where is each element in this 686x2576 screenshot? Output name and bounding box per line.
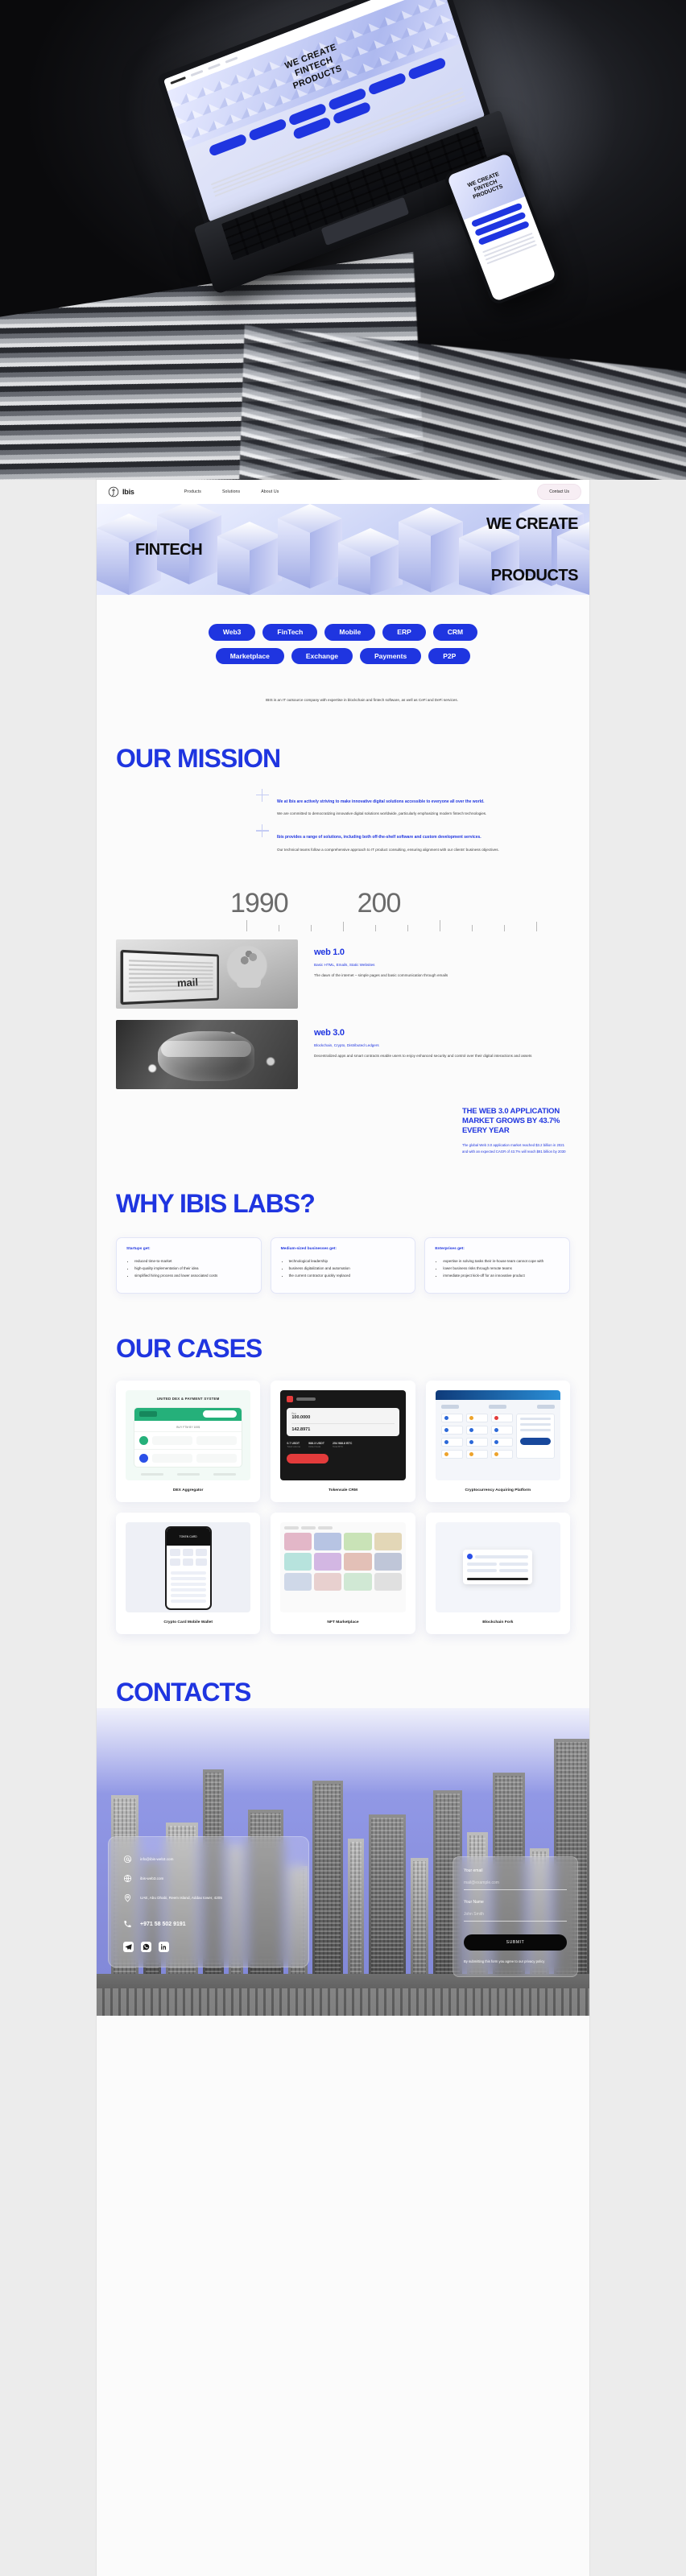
cases-row-1: UNITED DEX & PAYMENT SYSTEM BUY FTM BY 1… [116, 1381, 570, 1502]
mission-block-2: Ibis provides a range of solutions, incl… [277, 834, 519, 853]
mission-section: OUR MISSION We at Ibis are actively stri… [97, 745, 589, 853]
dex-shot-sub: BUY FTM BY 100$ [134, 1421, 242, 1431]
case-label-crypto-acquiring: Cryptocurrency Acquiring Platform [436, 1480, 560, 1502]
site-navbar: Ibis Products Solutions About Us Contact… [97, 480, 589, 504]
contact-phone: +971 58 502 9191 [140, 1922, 186, 1927]
service-tags: Web3 FinTech Mobile ERP CRM Marketplace … [97, 595, 589, 664]
timeline-years: 1990 200 [97, 890, 589, 917]
telegram-icon[interactable] [123, 1942, 134, 1952]
era-web3-title: web 3.0 [314, 1028, 531, 1038]
hero-line-2: FINTECH [135, 541, 202, 559]
case-label-crypto-card-wallet: Crypto Card Mobile Wallet [126, 1612, 250, 1634]
case-label-dex-aggregator: DEX Aggregator [126, 1480, 250, 1502]
crm-stat-key: Total volume [287, 1445, 300, 1448]
era-web3-subtitle: Blockchain, Crypto, Distributed Ledgers [314, 1043, 531, 1047]
name-field[interactable] [464, 1905, 567, 1922]
why-card-enterprises-item: expertise in solving tasks their in-hous… [443, 1258, 560, 1265]
case-screenshot-wallet: TOKEN CARD [126, 1522, 250, 1612]
why-card-medium-item: business digitalization and automation [289, 1265, 406, 1273]
why-card-medium: Medium-sized businesses get: technologic… [271, 1237, 416, 1293]
timeline: 1990 200 [97, 890, 589, 931]
cases-row-2: TOKEN CARD Crypto Card Mobile Wallet [116, 1513, 570, 1634]
era-web3-desc: Decentralized apps and smart contracts e… [314, 1053, 531, 1060]
privacy-note: By submitting this form you agree to our… [464, 1959, 567, 1964]
contacts-heading: CONTACTS [97, 1678, 589, 1707]
phone-icon [123, 1920, 132, 1929]
why-card-startups-title: Startups get: [126, 1247, 251, 1251]
contact-us-button[interactable]: Contact Us [537, 484, 581, 500]
case-card-dex-aggregator[interactable]: UNITED DEX & PAYMENT SYSTEM BUY FTM BY 1… [116, 1381, 260, 1502]
service-tags-row-2: Marketplace Exchange Payments P2P [216, 648, 471, 665]
why-card-startups-item: reduced time-to-market [134, 1258, 251, 1265]
whatsapp-icon[interactable] [141, 1942, 151, 1952]
case-card-crypto-acquiring[interactable]: Cryptocurrency Acquiring Platform [426, 1381, 570, 1502]
submit-button[interactable]: SUBMIT [464, 1934, 567, 1951]
tag-erp[interactable]: ERP [382, 624, 425, 641]
tag-marketplace[interactable]: Marketplace [216, 648, 284, 665]
why-card-startups: Startups get: reduced time-to-market hig… [116, 1237, 262, 1293]
ibis-bird-icon [108, 486, 119, 497]
nav-link-solutions[interactable]: Solutions [222, 489, 240, 494]
case-screenshot-dex: UNITED DEX & PAYMENT SYSTEM BUY FTM BY 1… [126, 1390, 250, 1480]
mission-block-1-text: We are committed to democratizing innova… [277, 811, 519, 818]
nav-link-products[interactable]: Products [184, 489, 201, 494]
linkedin-icon[interactable] [159, 1942, 169, 1952]
market-heading: THE WEB 3.0 APPLICATION MARKET GROWS BY … [462, 1107, 570, 1136]
cases-grid: UNITED DEX & PAYMENT SYSTEM BUY FTM BY 1… [97, 1381, 589, 1634]
why-card-enterprises-item: immediate project kick-off for an innova… [443, 1273, 560, 1280]
mission-block-2-text: Our technical teams follow a comprehensi… [277, 847, 519, 854]
dex-shot-title: UNITED DEX & PAYMENT SYSTEM [134, 1397, 242, 1401]
promo-ripple-right [239, 325, 686, 480]
contact-info-card: info@ibis-web3.com ibis-web3.com UAE, Ab… [108, 1836, 309, 1967]
era-web1: web 1.0 Basic HTML, Emails, Static Websi… [97, 939, 589, 1009]
email-field-label: Your email [464, 1868, 567, 1873]
timeline-year-1990: 1990 [230, 890, 288, 917]
contacts-section: CONTACTS [97, 1678, 589, 2016]
why-section: WHY IBIS LABS? [97, 1191, 589, 1216]
market-text: The global Web 3.0 application market re… [462, 1142, 570, 1155]
why-card-medium-item: technological leadership [289, 1258, 406, 1265]
why-card-startups-item: simplified hiring process and lower asso… [134, 1273, 251, 1280]
hero-banner: WE CREATE FINTECH PRODUCTS [97, 504, 589, 595]
tag-p2p[interactable]: P2P [428, 648, 470, 665]
globe-icon [123, 1874, 132, 1883]
why-card-enterprises-title: Enterprises get: [435, 1247, 560, 1251]
why-card-medium-title: Medium-sized businesses get: [281, 1247, 406, 1251]
why-card-medium-item: the current contractor quickly replaced [289, 1273, 406, 1280]
era-web1-desc: The dawn of the internet – simple pages … [314, 972, 448, 980]
tag-web3[interactable]: Web3 [209, 624, 256, 641]
name-field-label: Your Name [464, 1900, 567, 1905]
case-screenshot-nft [280, 1522, 405, 1612]
mission-block-1: We at Ibis are actively striving to make… [277, 799, 519, 818]
contact-email: info@ibis-web3.com [140, 1857, 173, 1861]
hero-line-1: WE CREATE [486, 515, 578, 534]
crm-amount-2: 142.8971 [291, 1427, 394, 1432]
case-card-crypto-card-wallet[interactable]: TOKEN CARD Crypto Card Mobile Wallet [116, 1513, 260, 1634]
wallet-card-title: TOKEN CARD [167, 1528, 210, 1546]
nav-links: Products Solutions About Us [184, 489, 279, 494]
contact-address-row: UAE, Abu Dhabi, Reem Island, Addax tower… [123, 1893, 294, 1902]
contact-email-row[interactable]: info@ibis-web3.com [123, 1855, 294, 1864]
cases-section: OUR CASES [97, 1335, 589, 1361]
email-field[interactable] [464, 1874, 567, 1890]
tag-exchange[interactable]: Exchange [291, 648, 353, 665]
crm-stat-key: Total BTC [333, 1445, 352, 1448]
promo-photo: WE CREATE FINTECH PRODUCTS [0, 0, 686, 480]
crm-amount-1: 100.0000 [291, 1415, 394, 1420]
market-stat: THE WEB 3.0 APPLICATION MARKET GROWS BY … [369, 1107, 570, 1156]
case-screenshot-fork [436, 1522, 560, 1612]
contact-phone-row[interactable]: +971 58 502 9191 [123, 1920, 294, 1929]
contact-website: ibis-web3.com [140, 1876, 163, 1880]
case-label-tokensale-crm: Tokensale CRM [280, 1480, 405, 1502]
contact-website-row[interactable]: ibis-web3.com [123, 1874, 294, 1883]
mission-block-2-title: Ibis provides a range of solutions, incl… [277, 834, 519, 841]
mission-block-1-title: We at Ibis are actively striving to make… [277, 799, 519, 806]
why-card-startups-item: high-quality implementation of their ide… [134, 1265, 251, 1273]
case-label-nft-marketplace: NFT Marketplace [280, 1612, 405, 1634]
mission-heading: OUR MISSION [116, 745, 589, 771]
plus-icon [256, 789, 269, 802]
case-card-nft-marketplace[interactable]: NFT Marketplace [271, 1513, 415, 1634]
case-screenshot-crm: Buy 100.0000 142.8971 0.7 USDTTotal volu… [280, 1390, 405, 1480]
brand-name: Ibis [122, 488, 134, 496]
era-web1-subtitle: Basic HTML, Emails, Static Websites [314, 963, 448, 967]
hero-headline: WE CREATE FINTECH PRODUCTS [97, 504, 589, 595]
at-email-icon [123, 1855, 132, 1864]
website-screenshot: Ibis Products Solutions About Us Contact… [97, 480, 589, 2576]
case-card-tokensale-crm[interactable]: Buy 100.0000 142.8971 0.7 USDTTotal volu… [271, 1381, 415, 1502]
why-card-enterprises: Enterprises get: expertise in solving ta… [424, 1237, 570, 1293]
era-web1-title: web 1.0 [314, 947, 448, 957]
brand-logo[interactable]: Ibis [108, 486, 134, 497]
timeline-year-2000: 200 [357, 890, 401, 917]
tag-mobile[interactable]: Mobile [324, 624, 375, 641]
tag-fintech[interactable]: FinTech [262, 624, 317, 641]
cases-heading: OUR CASES [116, 1335, 589, 1361]
crm-action-button [287, 1454, 329, 1463]
tag-crm[interactable]: CRM [433, 624, 477, 641]
plus-icon [256, 824, 269, 837]
tag-payments[interactable]: Payments [360, 648, 421, 665]
era-web3-image [116, 1020, 298, 1089]
why-heading: WHY IBIS LABS? [116, 1191, 589, 1216]
why-cards: Startups get: reduced time-to-market hig… [97, 1237, 589, 1293]
case-label-blockchain-fork: Blockchain Fork [436, 1612, 560, 1634]
contact-address: UAE, Abu Dhabi, Reem Island, Addax tower… [140, 1896, 222, 1900]
timeline-ticks [230, 920, 589, 931]
era-web3: web 3.0 Blockchain, Crypto, Distributed … [97, 1020, 589, 1089]
contact-form: Your email Your Name SUBMIT By submittin… [453, 1856, 578, 1976]
intro-paragraph: IBIS is an IT outsource company with exp… [266, 696, 467, 704]
why-card-enterprises-item: lower business risks through remote team… [443, 1265, 560, 1273]
crm-stat-key: Order book [308, 1445, 324, 1448]
hero-line-3: PRODUCTS [491, 567, 578, 585]
case-card-blockchain-fork[interactable]: Blockchain Fork [426, 1513, 570, 1634]
nav-link-about-us[interactable]: About Us [261, 489, 279, 494]
era-web1-image [116, 939, 298, 1009]
social-links [123, 1942, 294, 1952]
mission-blocks: We at Ibis are actively striving to make… [277, 799, 519, 853]
case-screenshot-acquiring [436, 1390, 560, 1480]
service-tags-row-1: Web3 FinTech Mobile ERP CRM [209, 624, 477, 641]
location-pin-icon [123, 1893, 132, 1902]
